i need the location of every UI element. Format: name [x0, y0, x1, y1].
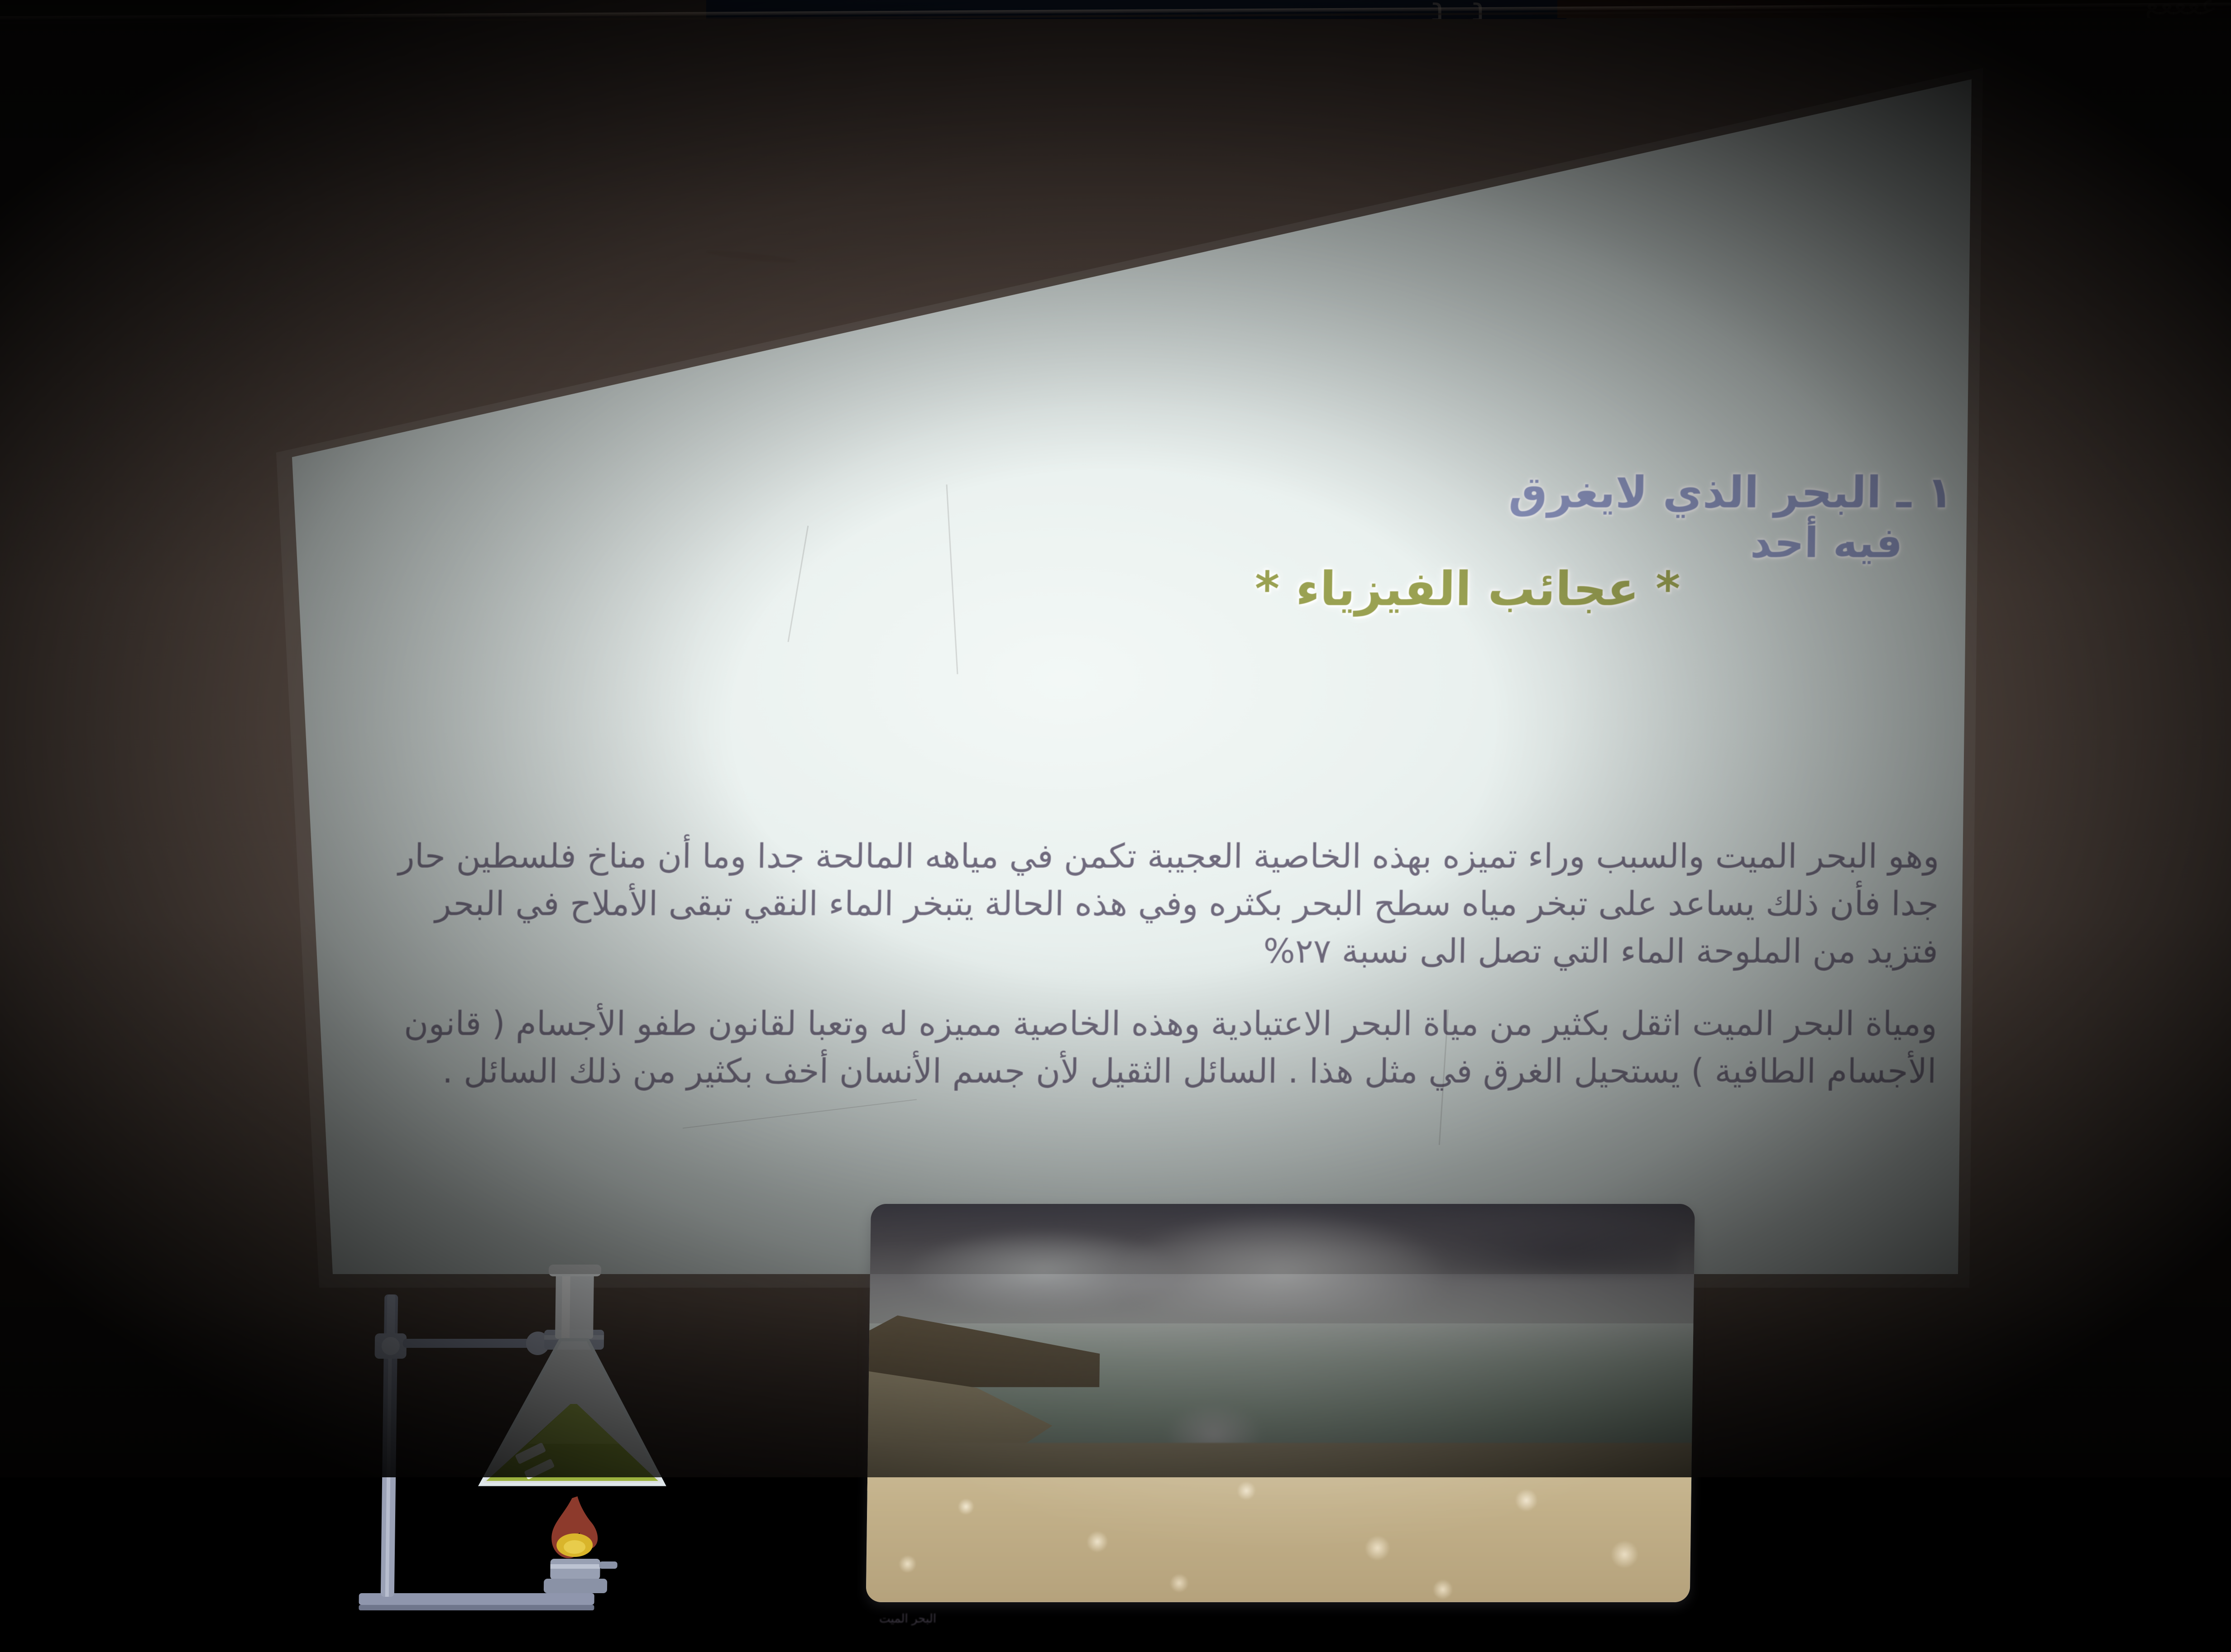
retort-stand-flask-burner-icon: [345, 1245, 694, 1625]
slide-paragraph-1: وهو البحر الميت والسبب وراء تميزه بهذه ‏…: [362, 833, 1939, 975]
slide-title: * عجائب الفيزياء *: [1254, 561, 1680, 616]
slide-heading-line-1: ١ ـ البحر الذي لايغرق: [1508, 467, 1953, 518]
projected-slide-area: ١ ـ البحر الذي لايغرق فيه أحد * عجائب ال…: [0, 0, 2231, 1477]
board-scratch: [946, 484, 958, 674]
presentation-slide: ١ ـ البحر الذي لايغرق فيه أحد * عجائب ال…: [277, 457, 1972, 1652]
board-scratch: [787, 525, 809, 642]
slide-heading-line-2: فيه أحد: [1750, 519, 1903, 567]
slide-paragraph-2: ومياة البحر الميت اثقل بكثير من مياة الب…: [361, 1000, 1938, 1095]
board-scratch: [683, 1099, 917, 1128]
dead-sea-photo: [866, 1204, 1695, 1602]
photo-caption: البحر الميت: [879, 1612, 936, 1626]
photo-haze: [866, 1204, 1695, 1602]
